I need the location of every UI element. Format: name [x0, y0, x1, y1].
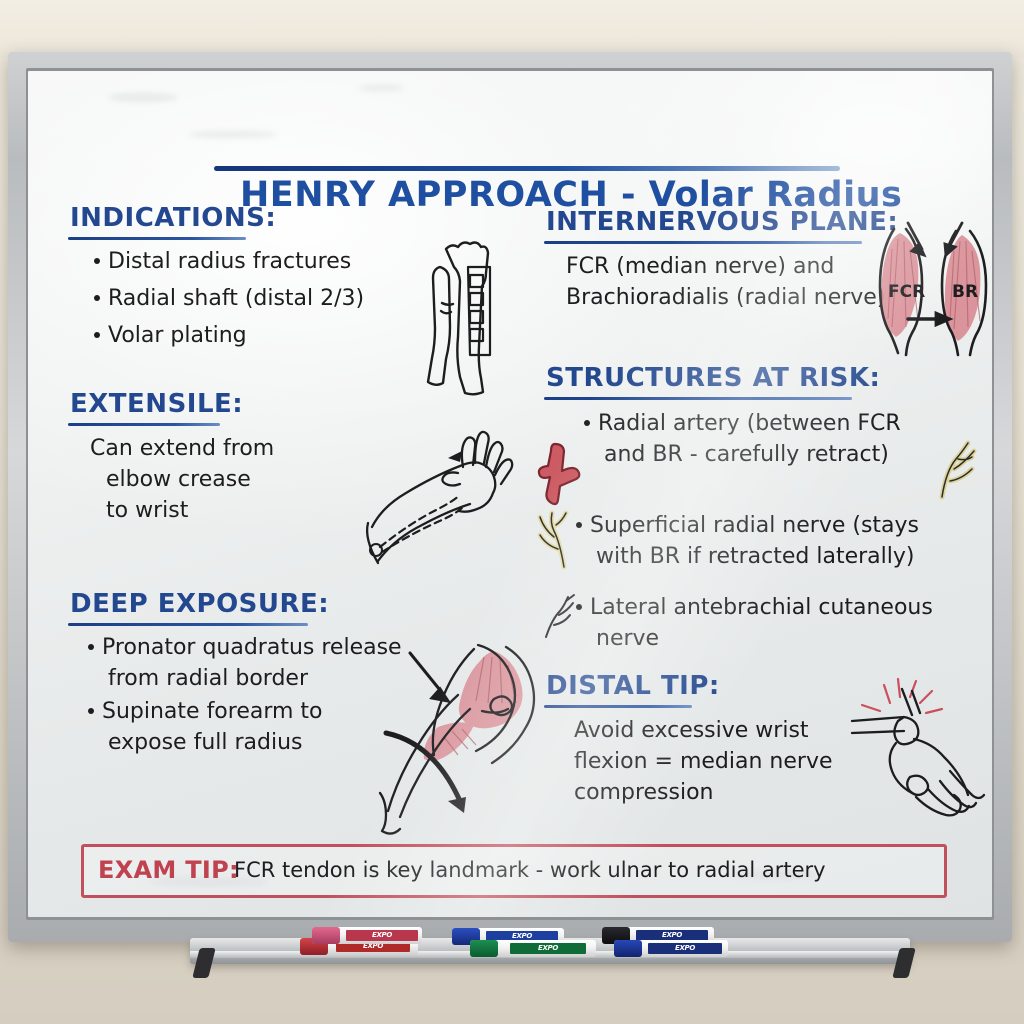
- superficial-radial-nerve-sketch-right: [934, 439, 986, 501]
- extensile-line-1: Can extend from: [90, 433, 274, 464]
- list-item: Lateral antebrachial cutaneous: [576, 593, 933, 622]
- marker-brand-label: EXPO: [346, 930, 418, 941]
- marker-pink[interactable]: EXPO: [312, 927, 422, 944]
- forearm-with-dashed-incision-line: [366, 411, 551, 576]
- flexed-wrist-compression-sketch: [850, 677, 992, 822]
- heading-underline-structures-at-risk: [544, 397, 852, 400]
- list-item: Volar plating: [94, 321, 247, 350]
- heading-structures-at-risk: STRUCTURES AT RISK:: [546, 363, 880, 393]
- radius-ulna-with-volar-plate: [410, 241, 520, 396]
- board-smudge: [108, 93, 178, 102]
- exam-tip-banner: EXAM TIP: FCR tendon is key landmark - w…: [81, 844, 947, 898]
- list-item-continuation: nerve: [596, 623, 659, 654]
- title-underline: [214, 166, 840, 171]
- marker-brand-label: EXPO: [648, 943, 722, 954]
- fcr-br-muscle-interval: FCR BR: [870, 227, 992, 357]
- distal-tip-line-3: compression: [574, 777, 714, 808]
- heading-distal-tip: DISTAL TIP:: [546, 671, 720, 701]
- whiteboard-frame: HENRY APPROACH - Volar Radius INDICATION…: [8, 52, 1012, 942]
- marker-cap: [470, 940, 498, 957]
- heading-internervous-plane: INTERNERVOUS PLANE:: [546, 207, 898, 237]
- list-item-label: Volar plating: [108, 321, 247, 350]
- heading-underline-deep-exposure: [68, 623, 308, 626]
- distal-tip-line-2: flexion = median nerve: [574, 746, 833, 777]
- forearm-pronator-quadratus-supination-arrow: [378, 641, 563, 841]
- heading-extensile: EXTENSILE:: [70, 389, 243, 419]
- bullet-dot: [576, 522, 582, 528]
- list-item: Supinate forearm to: [88, 697, 323, 726]
- heading-underline-internervous-plane: [544, 241, 862, 244]
- marker-cap: [312, 927, 340, 944]
- list-item: Pronator quadratus release: [88, 633, 402, 662]
- marker-blue-lower[interactable]: EXPO: [614, 940, 728, 957]
- list-item-label: Supinate forearm to: [102, 697, 323, 726]
- bullet-dot: [88, 708, 94, 714]
- list-item-label: Lateral antebrachial cutaneous: [590, 593, 933, 622]
- wall-upper-band: [0, 0, 1024, 58]
- exam-tip-label: EXAM TIP:: [98, 856, 239, 884]
- bullet-dot: [94, 258, 100, 264]
- bullet-dot: [94, 332, 100, 338]
- list-item: Superficial radial nerve (stays: [576, 511, 919, 540]
- marker-brand-label: EXPO: [510, 943, 586, 954]
- muscle-label-br: BR: [952, 282, 978, 302]
- list-item-label: Radial artery (between FCR: [598, 409, 901, 438]
- marker-cap: [614, 940, 642, 957]
- marker-green[interactable]: EXPO: [470, 940, 596, 957]
- muscle-label-fcr: FCR: [888, 282, 925, 302]
- list-item: Radial artery (between FCR: [584, 409, 901, 438]
- list-item: Radial shaft (distal 2/3): [94, 284, 364, 313]
- heading-indications: INDICATIONS:: [70, 203, 276, 233]
- distal-tip-line-1: Avoid excessive wrist: [574, 715, 809, 746]
- list-item: Distal radius fractures: [94, 247, 351, 276]
- heading-underline-indications: [68, 237, 246, 240]
- bullet-dot: [576, 604, 582, 610]
- exam-tip-text: FCR tendon is key landmark - work ulnar …: [234, 858, 826, 882]
- internervous-line-1: FCR (median nerve) and: [566, 251, 834, 282]
- list-item-continuation: expose full radius: [108, 727, 303, 758]
- heading-deep-exposure: DEEP EXPOSURE:: [70, 589, 329, 619]
- bullet-dot: [94, 295, 100, 301]
- list-item-label: Radial shaft (distal 2/3): [108, 284, 364, 313]
- whiteboard-surface[interactable]: HENRY APPROACH - Volar Radius INDICATION…: [28, 71, 992, 917]
- list-item-label: Superficial radial nerve (stays: [590, 511, 919, 540]
- list-item-continuation: and BR - carefully retract): [604, 439, 889, 470]
- screenshot-root: HENRY APPROACH - Volar Radius INDICATION…: [0, 0, 1024, 1024]
- heading-underline-distal-tip: [544, 705, 692, 708]
- extensile-line-2: elbow crease: [106, 464, 251, 495]
- board-smudge: [358, 85, 404, 91]
- list-item-continuation: from radial border: [108, 663, 308, 694]
- list-item-continuation: with BR if retracted laterally): [596, 541, 914, 572]
- extensile-line-3: to wrist: [106, 495, 188, 526]
- list-item-label: Distal radius fractures: [108, 247, 351, 276]
- radial-artery-sketch: [539, 442, 581, 502]
- heading-underline-extensile: [68, 423, 220, 426]
- bullet-dot: [584, 420, 590, 426]
- bullet-dot: [88, 644, 94, 650]
- board-smudge: [188, 131, 278, 138]
- list-item-label: Pronator quadratus release: [102, 633, 402, 662]
- internervous-line-2: Brachioradialis (radial nerve): [566, 282, 885, 313]
